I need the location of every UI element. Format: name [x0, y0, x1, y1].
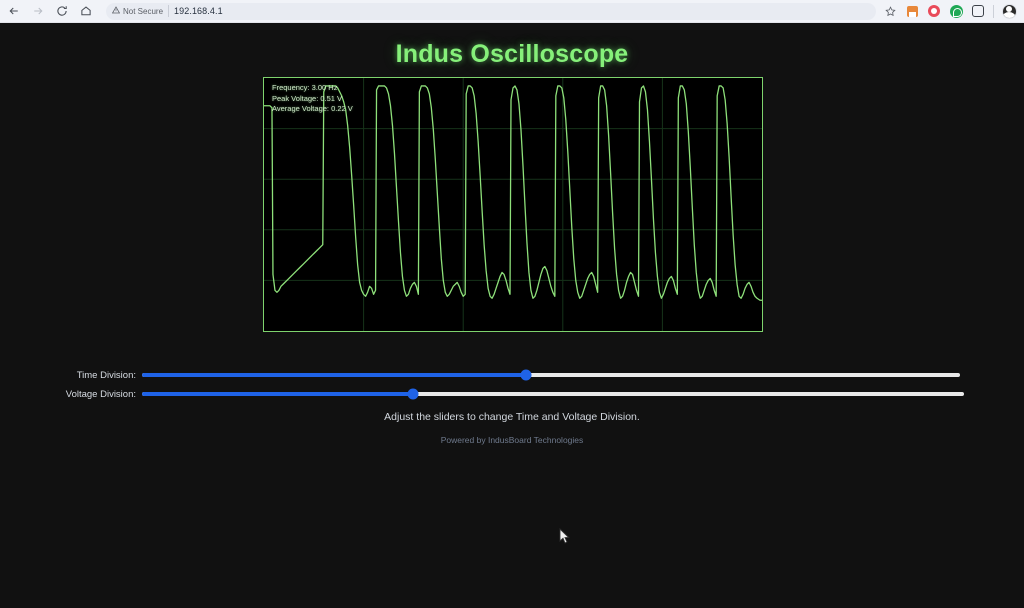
readout-peak-voltage: Peak Voltage: 0.51 V	[272, 94, 353, 105]
time-division-label: Time Division:	[64, 370, 142, 381]
page-body: Indus Oscilloscope Frequency: 3.00 Hz Pe…	[0, 23, 1024, 608]
target-extension-icon[interactable]	[925, 2, 943, 20]
warning-triangle-icon	[112, 6, 120, 16]
navigation-buttons	[0, 0, 98, 22]
time-division-row: Time Division:	[64, 368, 964, 382]
profile-avatar[interactable]	[1000, 2, 1018, 20]
extensions-icon[interactable]	[969, 2, 987, 20]
forward-icon[interactable]	[26, 0, 50, 22]
footer-text: Powered by IndusBoard Technologies	[0, 435, 1024, 445]
url-text[interactable]: 192.168.4.1	[174, 6, 223, 16]
home-icon[interactable]	[74, 0, 98, 22]
readout-average-voltage: Average Voltage: 0.22 V	[272, 104, 353, 115]
voltage-division-row: Voltage Division:	[64, 387, 964, 401]
security-indicator[interactable]: Not Secure	[112, 5, 169, 17]
time-division-slider[interactable]	[142, 368, 960, 382]
chart-extension-icon[interactable]	[903, 2, 921, 20]
voltage-division-fill	[142, 392, 413, 396]
reload-icon[interactable]	[50, 0, 74, 22]
security-label: Not Secure	[123, 7, 163, 16]
address-bar[interactable]: Not Secure 192.168.4.1	[106, 3, 876, 20]
time-division-thumb[interactable]	[521, 370, 532, 381]
voltage-division-slider[interactable]	[142, 387, 964, 401]
oscilloscope-canvas[interactable]: Frequency: 3.00 Hz Peak Voltage: 0.51 V …	[263, 77, 763, 332]
waveform-plot	[264, 78, 762, 331]
voltage-division-label: Voltage Division:	[64, 389, 142, 400]
toolbar-divider	[993, 5, 994, 18]
time-division-fill	[142, 373, 526, 377]
whatsapp-icon[interactable]	[947, 2, 965, 20]
browser-toolbar: Not Secure 192.168.4.1	[0, 0, 1024, 23]
toolbar-icons	[881, 2, 1024, 20]
mouse-cursor	[559, 528, 570, 545]
measurement-readout: Frequency: 3.00 Hz Peak Voltage: 0.51 V …	[272, 83, 353, 115]
waveform-trace	[264, 86, 762, 300]
bookmark-star-icon[interactable]	[881, 2, 899, 20]
readout-frequency: Frequency: 3.00 Hz	[272, 83, 353, 94]
voltage-division-thumb[interactable]	[408, 389, 419, 400]
oscilloscope-panel: Frequency: 3.00 Hz Peak Voltage: 0.51 V …	[263, 77, 763, 332]
back-icon[interactable]	[2, 0, 26, 22]
hint-text: Adjust the sliders to change Time and Vo…	[0, 411, 1024, 423]
page-title: Indus Oscilloscope	[0, 40, 1024, 69]
